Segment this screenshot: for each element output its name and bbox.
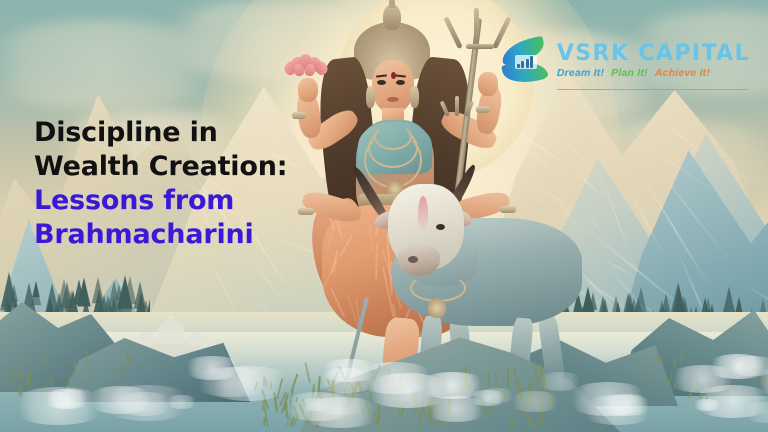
foam-spray: [41, 389, 92, 409]
blog-banner: VSRK CAPITAL Dream It! Plan It! Achieve …: [0, 0, 768, 432]
pine-tree: [91, 277, 103, 304]
bull-forehead-mark: [418, 196, 428, 230]
eye-left: [377, 80, 386, 85]
brand-tagline: Dream It! Plan It! Achieve It!: [557, 68, 750, 79]
grass-blade: [511, 420, 513, 428]
bull-eye: [436, 224, 445, 230]
crown-tip: [389, 0, 395, 8]
tagline-dream: Dream It!: [557, 68, 604, 79]
bull-nostril: [408, 256, 418, 263]
brand-logo[interactable]: VSRK CAPITAL Dream It! Plan It! Achieve …: [497, 34, 750, 88]
bangle-upper-right: [476, 106, 490, 113]
lotus-flower-icon: [284, 52, 326, 80]
ridge-streak: [663, 121, 704, 154]
grass-blade: [507, 368, 509, 389]
trident-prong-1: [443, 16, 462, 49]
tagline-plan: Plan It!: [611, 68, 648, 79]
headline-block: Discipline in Wealth Creation: Lessons f…: [34, 116, 304, 252]
earring-right: [410, 86, 419, 108]
bar-chart-icon: [515, 55, 537, 69]
foam-spray: [354, 362, 436, 393]
bull-snout: [398, 244, 440, 276]
pine-tree: [1, 273, 17, 307]
trident-head-icon: [456, 8, 502, 56]
logo-underline: [557, 89, 748, 91]
trident-crossbar: [466, 44, 494, 49]
small-trident-icon: [446, 96, 470, 124]
brand-name: VSRK CAPITAL: [557, 43, 750, 65]
headline-line-4: Brahmacharini: [34, 218, 304, 252]
pine-tree: [31, 283, 41, 305]
logo-text-block: VSRK CAPITAL Dream It! Plan It! Achieve …: [557, 43, 750, 79]
foam-spray: [468, 390, 508, 405]
foam-spray: [507, 391, 563, 412]
hand-holding-trident: [478, 72, 498, 96]
hand-holding-lotus: [298, 78, 318, 102]
pine-tree: [124, 276, 137, 304]
leaf-chart-emblem-icon: [497, 34, 551, 88]
face: [372, 60, 414, 114]
ridge-streak: [644, 153, 734, 266]
earring-left: [366, 86, 375, 108]
small-trident-prong-2: [464, 101, 474, 117]
tagline-achieve: Achieve It!: [655, 68, 710, 79]
foam-spray: [181, 356, 244, 380]
foam-spray: [666, 365, 740, 393]
lips: [387, 97, 399, 102]
small-trident-prong-0: [455, 96, 459, 116]
grass-blade: [3, 365, 5, 376]
bindi: [391, 72, 396, 79]
headline-line-2: Wealth Creation:: [34, 150, 304, 184]
bull-collar-pendant: [428, 298, 446, 318]
headline-line-3: Lessons from: [34, 184, 304, 218]
eye-right: [396, 80, 405, 85]
ridge-streak: [627, 186, 665, 258]
headline-line-1: Discipline in: [34, 116, 304, 150]
foam-spray: [564, 382, 652, 415]
